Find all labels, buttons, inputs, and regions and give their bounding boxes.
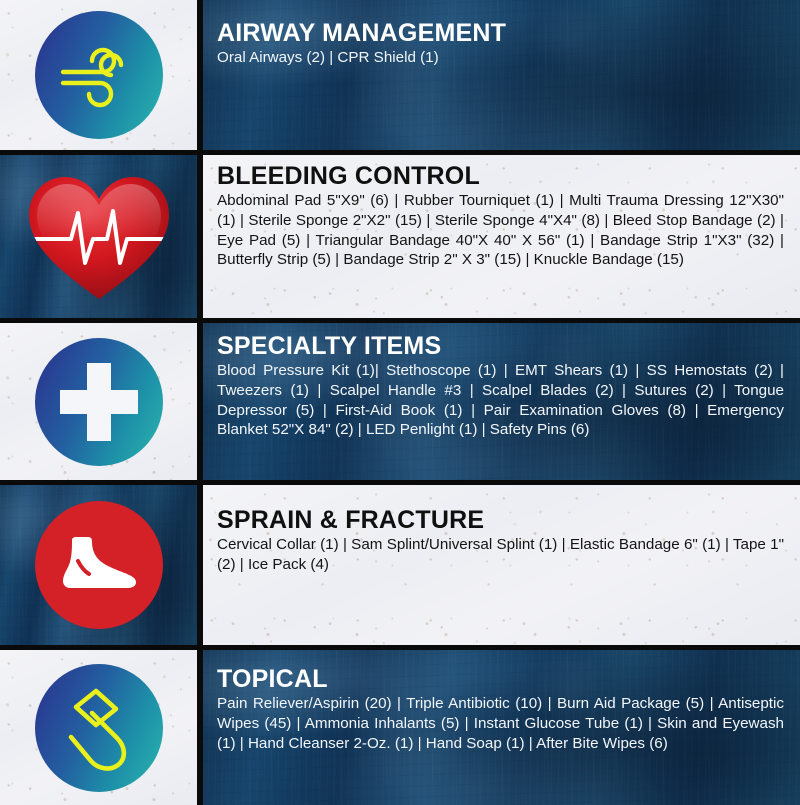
section-row-airway-management: AIRWAY MANAGEMENT Oral Airways (2) | CPR… (0, 0, 800, 150)
text-cell-topical: TOPICAL Pain Reliever/Aspirin (20) | Tri… (203, 650, 800, 805)
foot-icon (35, 501, 163, 629)
section-row-specialty-items: SPECIALTY ITEMS Blood Pressure Kit (1)| … (0, 318, 800, 480)
icon-cell-specialty-items (0, 323, 197, 480)
section-items-airway-management: Oral Airways (2) | CPR Shield (1) (217, 48, 784, 68)
section-items-bleeding-control: Abdominal Pad 5"X9" (6) | Rubber Tourniq… (217, 191, 784, 270)
section-title-airway-management: AIRWAY MANAGEMENT (217, 20, 784, 46)
text-cell-specialty-items: SPECIALTY ITEMS Blood Pressure Kit (1)| … (203, 323, 800, 480)
icon-cell-bleeding-control (0, 155, 197, 318)
section-title-bleeding-control: BLEEDING CONTROL (217, 163, 784, 189)
section-items-topical: Pain Reliever/Aspirin (20) | Triple Anti… (217, 694, 784, 753)
text-cell-bleeding-control: BLEEDING CONTROL Abdominal Pad 5"X9" (6)… (203, 155, 800, 318)
section-row-bleeding-control: BLEEDING CONTROL Abdominal Pad 5"X9" (6)… (0, 150, 800, 318)
first-aid-kit-contents-infographic: AIRWAY MANAGEMENT Oral Airways (2) | CPR… (0, 0, 800, 800)
section-title-specialty-items: SPECIALTY ITEMS (217, 333, 784, 359)
section-title-topical: TOPICAL (217, 666, 784, 692)
section-items-specialty-items: Blood Pressure Kit (1)| Stethoscope (1) … (217, 361, 784, 440)
text-cell-sprain-and-fracture: SPRAIN & FRACTURE Cervical Collar (1) | … (203, 485, 800, 645)
test-tube-icon (35, 664, 163, 792)
icon-cell-airway-management (0, 0, 197, 150)
wind-icon (35, 11, 163, 139)
section-items-sprain-and-fracture: Cervical Collar (1) | Sam Splint/Univers… (217, 535, 784, 575)
section-row-topical: TOPICAL Pain Reliever/Aspirin (20) | Tri… (0, 645, 800, 805)
heart-ekg-icon (23, 167, 175, 307)
section-row-sprain-and-fracture: SPRAIN & FRACTURE Cervical Collar (1) | … (0, 480, 800, 645)
text-cell-airway-management: AIRWAY MANAGEMENT Oral Airways (2) | CPR… (203, 0, 800, 150)
section-title-sprain-and-fracture: SPRAIN & FRACTURE (217, 507, 784, 533)
medical-cross-icon (35, 338, 163, 466)
icon-cell-sprain-and-fracture (0, 485, 197, 645)
icon-cell-topical (0, 650, 197, 805)
